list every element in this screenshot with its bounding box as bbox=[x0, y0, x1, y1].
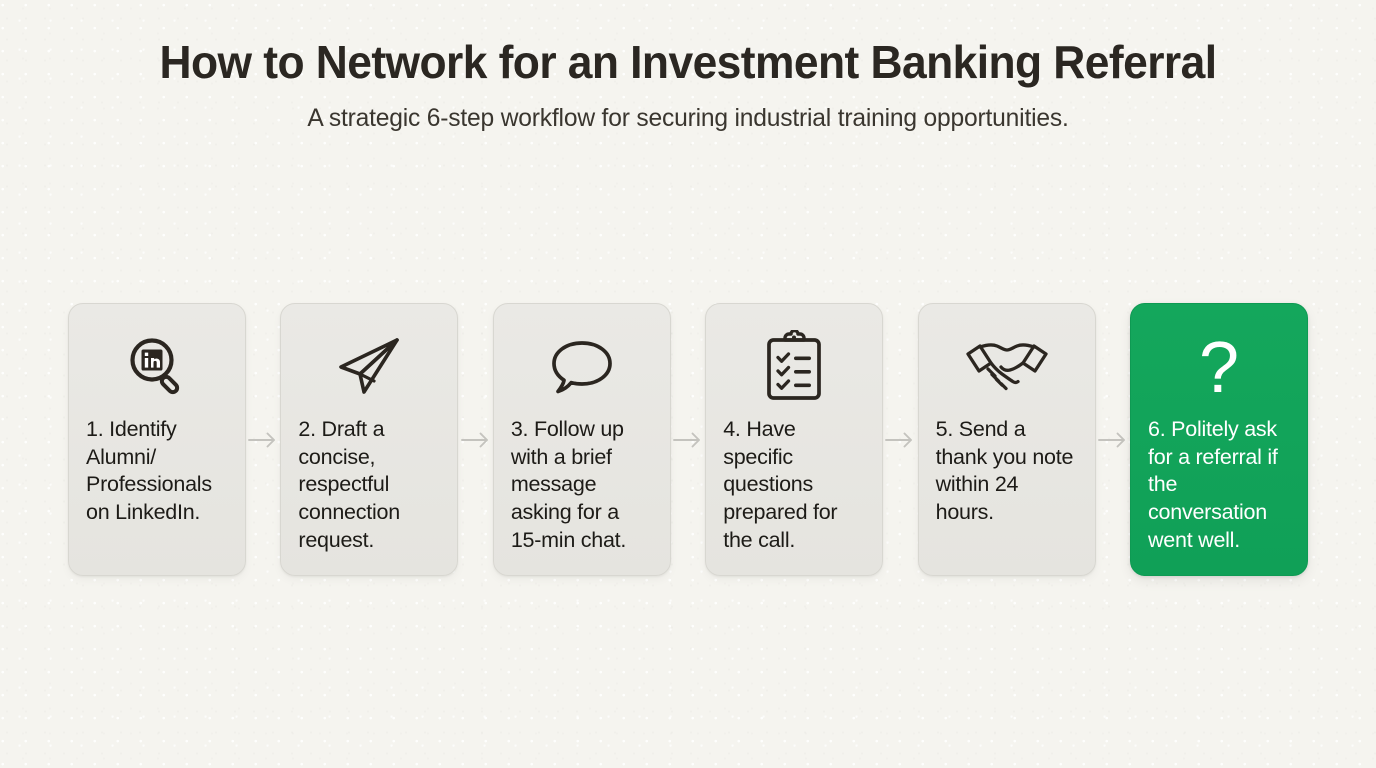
step-card-label: 6. Politely ask for a referral if the co… bbox=[1148, 416, 1290, 555]
speech-bubble-icon bbox=[511, 324, 653, 410]
step-card-label: 3. Follow up with a brief message asking… bbox=[511, 416, 653, 555]
arrow-right-icon bbox=[671, 303, 705, 576]
arrow-right-icon bbox=[1096, 303, 1130, 576]
step-card-label: 5. Send a thank you note within 24 hours… bbox=[936, 416, 1078, 527]
paper-plane-icon bbox=[298, 324, 440, 410]
page-title: How to Network for an Investment Banking… bbox=[24, 38, 1352, 88]
arrow-right-icon bbox=[246, 303, 280, 576]
page-subtitle: A strategic 6-step workflow for securing… bbox=[10, 104, 1365, 133]
step-card-label: 1. Identify Alumni/ Professionals on Lin… bbox=[86, 416, 228, 527]
step-card-label: 2. Draft a concise, respectful connectio… bbox=[298, 416, 440, 555]
linkedin-search-icon bbox=[86, 324, 228, 410]
workflow-steps: 1. Identify Alumni/ Professionals on Lin… bbox=[68, 303, 1308, 576]
page-header: How to Network for an Investment Banking… bbox=[0, 0, 1376, 133]
step-card-label: 4. Have specific questions prepared for … bbox=[723, 416, 865, 555]
step-card-1[interactable]: 1. Identify Alumni/ Professionals on Lin… bbox=[68, 303, 246, 576]
step-card-6[interactable]: ? 6. Politely ask for a referral if the … bbox=[1130, 303, 1308, 576]
step-card-4[interactable]: 4. Have specific questions prepared for … bbox=[705, 303, 883, 576]
arrow-right-icon bbox=[883, 303, 917, 576]
handshake-icon bbox=[936, 324, 1078, 410]
step-card-5[interactable]: 5. Send a thank you note within 24 hours… bbox=[918, 303, 1096, 576]
question-mark-glyph: ? bbox=[1199, 332, 1239, 404]
clipboard-checklist-icon bbox=[723, 324, 865, 410]
arrow-right-icon bbox=[458, 303, 492, 576]
question-mark-icon: ? bbox=[1148, 324, 1290, 410]
step-card-3[interactable]: 3. Follow up with a brief message asking… bbox=[493, 303, 671, 576]
step-card-2[interactable]: 2. Draft a concise, respectful connectio… bbox=[280, 303, 458, 576]
